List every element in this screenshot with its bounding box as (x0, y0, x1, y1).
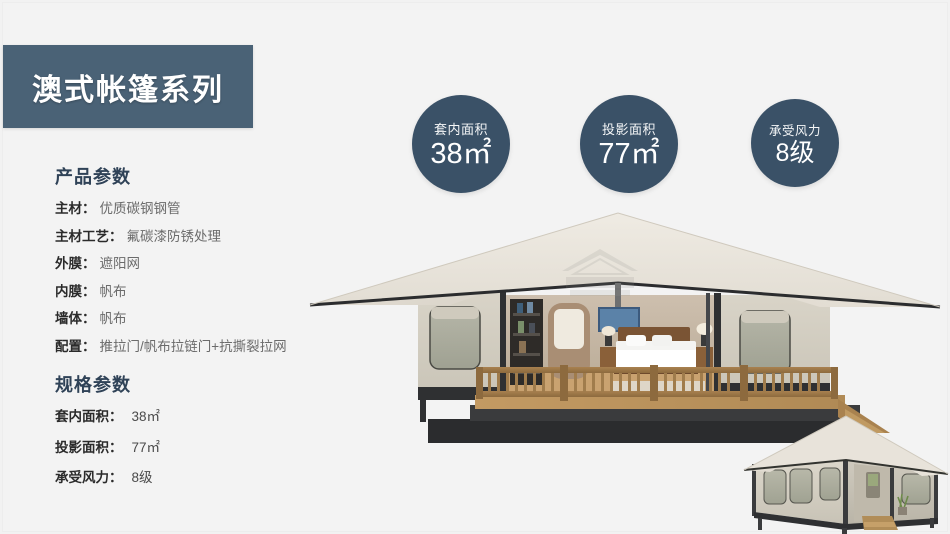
param-label: 配置： (55, 337, 96, 357)
product-params-heading: 产品参数 (55, 163, 355, 189)
spec-label: 承受风力： (55, 468, 123, 488)
secondary-tent-image (742, 412, 950, 534)
badge-value: 77㎡ (598, 139, 659, 169)
slide-canvas: 澳式帐篷系列 产品参数 主材： 优质碳钢钢管 主材工艺： 氟碳漆防锈处理 外膜：… (0, 0, 950, 534)
param-label: 外膜： (55, 254, 96, 274)
badge-value: 38㎡ (430, 139, 491, 169)
stat-badge-interior-area: 套内面积 38㎡ (412, 95, 510, 193)
secondary-tent-illustration (742, 412, 950, 534)
param-label: 内膜： (55, 282, 96, 302)
badge-title: 承受风力 (769, 120, 821, 139)
stat-badge-wind-resistance: 承受风力 8级 (751, 99, 839, 187)
param-value: 优质碳钢钢管 (100, 199, 181, 219)
param-value: 氟碳漆防锈处理 (127, 227, 222, 247)
spec-label: 套内面积： (55, 407, 123, 427)
stat-badge-projected-area: 投影面积 77㎡ (580, 95, 678, 193)
spec-value: 8级 (132, 468, 153, 488)
param-value: 帆布 (100, 282, 127, 302)
param-label: 墙体： (55, 309, 96, 329)
page-title: 澳式帐篷系列 (32, 65, 224, 109)
spec-label: 投影面积： (55, 438, 123, 458)
spec-value: 77㎡ (132, 438, 161, 458)
list-item: 承受风力： 8级 (55, 468, 355, 488)
title-banner: 澳式帐篷系列 (3, 45, 253, 128)
badge-title: 套内面积 (434, 119, 488, 138)
param-value: 遮阳网 (100, 254, 141, 274)
param-value: 推拉门/帆布拉链门+抗撕裂拉网 (100, 337, 287, 357)
param-value: 帆布 (100, 309, 127, 329)
spec-value: 38㎡ (132, 407, 161, 427)
badge-value: 8级 (776, 140, 815, 166)
param-label: 主材： (55, 199, 96, 219)
badge-title: 投影面积 (602, 119, 656, 138)
param-label: 主材工艺： (55, 227, 123, 247)
